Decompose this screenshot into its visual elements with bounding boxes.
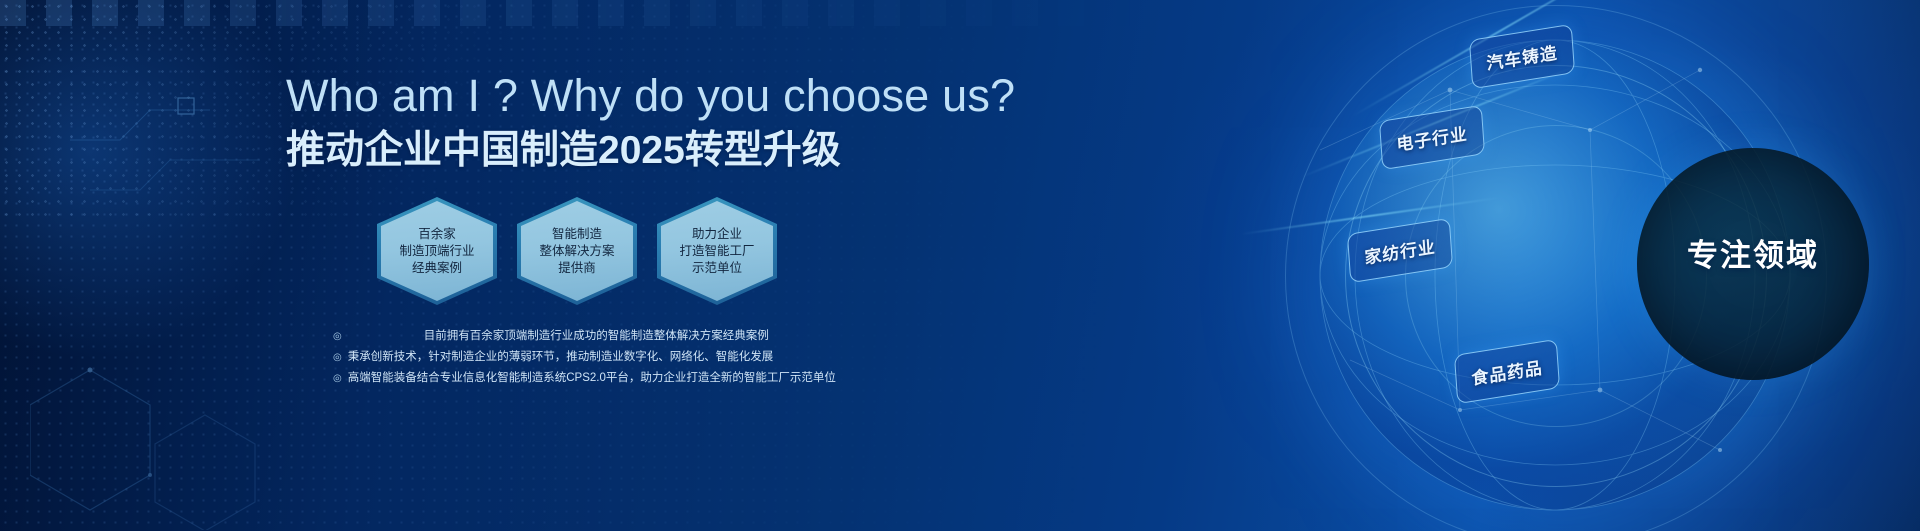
tag-food-pharma[interactable]: 食品药品 [1454, 339, 1560, 404]
feature-bullet-list: ◎ 目前拥有百余家顶端制造行业成功的智能制造整体解决方案经典案例 ◎ 秉承创新技… [333, 326, 1053, 389]
hex-factory-label: 助力企业 打造智能工厂 示范单位 [679, 226, 754, 277]
bullet-marker-icon: ◎ [333, 326, 342, 347]
list-item: ◎ 秉承创新技术，针对制造企业的薄弱环节，推动制造业数字化、网络化、智能化发展 [333, 347, 1053, 368]
headline-block: Who am I ? Why do you choose us? 推动企业中国制… [286, 68, 1046, 176]
bullet-text: 高端智能装备结合专业信息化智能制造系统CPS2.0平台，助力企业打造全新的智能工… [348, 368, 836, 389]
hex-cases[interactable]: 百余家 制造顶端行业 经典案例 [377, 197, 497, 305]
tag-automotive-casting[interactable]: 汽车铸造 [1469, 24, 1575, 89]
focus-area-label: 专注领域 [1637, 230, 1869, 275]
hex-solution[interactable]: 智能制造 整体解决方案 提供商 [517, 197, 637, 305]
headline-chinese: 推动企业中国制造2025转型升级 [286, 126, 1046, 176]
top-dash-strip [0, 0, 1150, 26]
hex-solution-label: 智能制造 整体解决方案 提供商 [539, 226, 614, 277]
headline-english: Who am I ? Why do you choose us? [286, 68, 1046, 124]
bullet-marker-icon: ◎ [333, 347, 342, 368]
tag-electronics[interactable]: 电子行业 [1379, 105, 1485, 170]
bullet-text: 秉承创新技术，针对制造企业的薄弱环节，推动制造业数字化、网络化、智能化发展 [348, 347, 774, 368]
hex-cases-label: 百余家 制造顶端行业 经典案例 [399, 226, 474, 277]
circuit-decoration-left [60, 20, 280, 220]
promo-banner: 专注领域 汽车铸造 电子行业 家纺行业 食品药品 Who am I ? Why … [0, 0, 1920, 531]
bullet-marker-icon: ◎ [333, 368, 342, 389]
hex-outline-decoration [30, 360, 290, 530]
bullet-text: 目前拥有百余家顶端制造行业成功的智能制造整体解决方案经典案例 [348, 326, 769, 347]
left-glow-decoration [0, 0, 300, 360]
hex-factory[interactable]: 助力企业 打造智能工厂 示范单位 [657, 197, 777, 305]
tag-home-textiles[interactable]: 家纺行业 [1347, 218, 1453, 283]
hexagon-badge-row: 百余家 制造顶端行业 经典案例 智能制造 整体解决方案 提供商 助力企业 打造智… [377, 197, 777, 305]
list-item: ◎ 目前拥有百余家顶端制造行业成功的智能制造整体解决方案经典案例 [333, 326, 1053, 347]
list-item: ◎ 高端智能装备结合专业信息化智能制造系统CPS2.0平台，助力企业打造全新的智… [333, 368, 1053, 389]
